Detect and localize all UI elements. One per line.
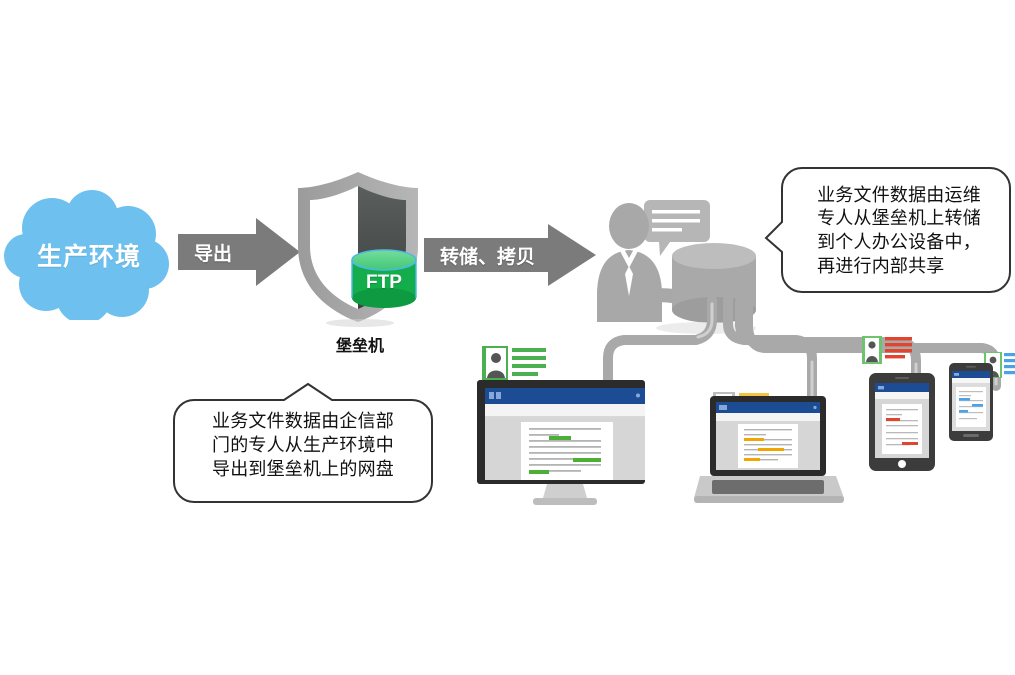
device-tablet (868, 372, 936, 472)
diagram-canvas: 生产环境 导出 (0, 0, 1015, 675)
user-card-tablet (862, 336, 912, 364)
production-environment-node: 生产环境 (4, 190, 174, 320)
callout-export-from-prod-text: 业务文件数据由企信部 门的专人从生产环境中 导出到堡垒机上的网盘 (212, 410, 394, 481)
production-environment-label: 生产环境 (4, 190, 174, 320)
callout-export-from-prod-body: 业务文件数据由企信部 门的专人从生产环境中 导出到堡垒机上的网盘 (172, 382, 434, 504)
bastion-host-label: 堡垒机 (300, 332, 420, 356)
ftp-storage-label: FTP (350, 248, 418, 310)
arrow-transfer-copy: 转储、拷贝 (424, 222, 596, 288)
device-laptop (694, 392, 844, 512)
callout-ops-transfer-body: 业务文件数据由运维 专人从堡垒机上转储 到个人办公设备中， 再进行内部共享 (764, 166, 1012, 296)
arrow-transfer-copy-label: 转储、拷贝 (424, 222, 612, 288)
callout-ops-transfer: 业务文件数据由运维 专人从堡垒机上转储 到个人办公设备中， 再进行内部共享 (764, 166, 1012, 296)
callout-export-from-prod: 业务文件数据由企信部 门的专人从生产环境中 导出到堡垒机上的网盘 (172, 382, 434, 504)
device-phone (948, 362, 994, 442)
user-card-desktop (482, 346, 546, 380)
callout-ops-transfer-text: 业务文件数据由运维 专人从堡垒机上转储 到个人办公设备中， 再进行内部共享 (817, 184, 981, 279)
arrow-export: 导出 (178, 216, 300, 288)
device-desktop-monitor (475, 378, 655, 508)
